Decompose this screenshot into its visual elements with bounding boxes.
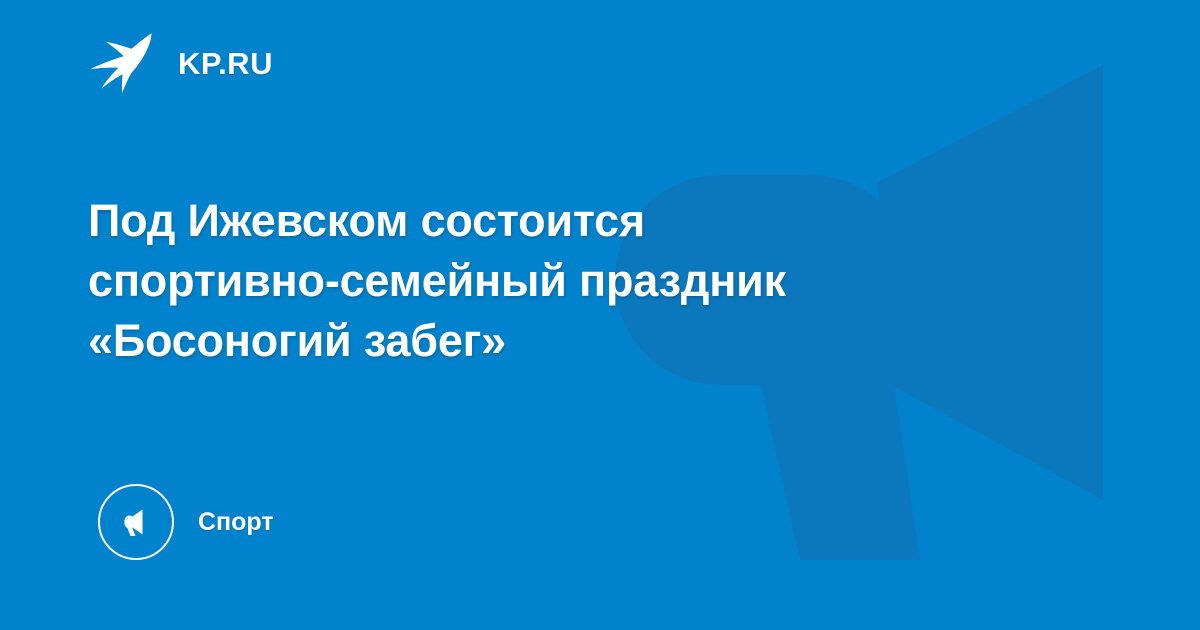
category-icon-circle [98,484,174,560]
brand-name: KP.RU [178,48,273,79]
headline-line-3: «Босоногий забег» [88,311,1018,371]
page-title: Под Ижевском состоится спортивно-семейны… [88,191,1018,371]
category-badge[interactable]: Спорт [98,484,274,560]
brand-logo[interactable]: KP.RU [88,32,273,94]
headline-line-2: спортивно-семейный праздник [88,251,1018,311]
swallow-bird-icon [88,32,160,94]
share-card: KP.RU Под Ижевском состоится спортивно-с… [0,0,1200,630]
megaphone-icon [116,502,156,542]
headline-line-1: Под Ижевском состоится [88,191,1018,251]
category-label: Спорт [198,510,274,535]
